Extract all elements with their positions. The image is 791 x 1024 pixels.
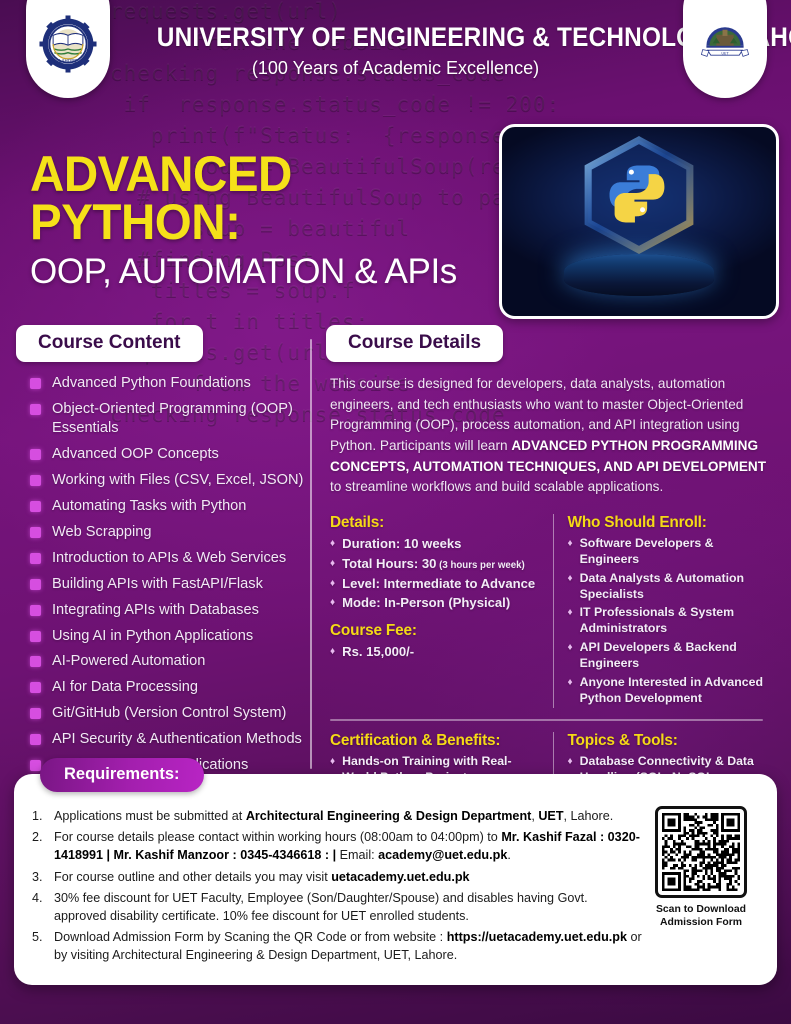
- who-should-enroll-item: ♦Anyone Interested in Advanced Python De…: [568, 674, 764, 706]
- details-label: Total Hours: 30 (3 hours per week): [342, 555, 525, 573]
- who-should-enroll-title: Who Should Enroll:: [568, 514, 764, 532]
- course-content-item-label: Object-Oriented Programming (OOP) Essent…: [52, 400, 308, 439]
- requirements-text-plain: For course outline and other details you…: [54, 870, 331, 884]
- course-fee-item: ♦Rs. 15,000/-: [330, 643, 541, 660]
- qr-block: Scan to Download Admission Form: [643, 800, 759, 969]
- topics-tools-title: Topics & Tools:: [568, 732, 764, 750]
- bullet-square-icon: [30, 527, 41, 538]
- hero-text-block: ADVANCED PYTHON: OOP, AUTOMATION & APIs: [0, 122, 499, 292]
- requirements-item-number: 2.: [32, 829, 54, 865]
- bullet-square-icon: [30, 682, 41, 693]
- course-fee-block: Course Fee: ♦Rs. 15,000/-: [330, 622, 541, 660]
- course-content-item-label: Git/GitHub (Version Control System): [52, 704, 286, 723]
- requirements-text-bold: academy@uet.edu.pk: [378, 848, 507, 862]
- bullet-square-icon: [30, 475, 41, 486]
- requirements-list: 1.Applications must be submitted at Arch…: [32, 800, 643, 969]
- course-content-item-label: Advanced OOP Concepts: [52, 445, 219, 464]
- course-content-item-label: Introduction to APIs & Web Services: [52, 549, 286, 568]
- requirements-item: 5.Download Admission Form by Scaning the…: [32, 929, 643, 965]
- course-content-item: Working with Files (CSV, Excel, JSON): [16, 471, 308, 490]
- course-content-item: Building APIs with FastAPI/Flask: [16, 575, 308, 594]
- course-content-item-label: Advanced Python Foundations: [52, 374, 251, 393]
- university-name: UNIVERSITY OF ENGINEERING & TECHNOLOGY L…: [156, 22, 634, 53]
- qr-caption: Scan to Download Admission Form: [643, 903, 759, 929]
- requirements-text-plain: For course details please contact within…: [54, 830, 501, 844]
- course-content-item: Integrating APIs with Databases: [16, 601, 308, 620]
- course-intro-paragraph: This course is designed for developers, …: [326, 374, 775, 498]
- requirements-item-text: Download Admission Form by Scaning the Q…: [54, 929, 643, 965]
- diamond-bullet-icon: ♦: [330, 596, 335, 609]
- diamond-bullet-icon: ♦: [568, 641, 573, 654]
- qr-caption-line2: Admission Form: [643, 916, 759, 929]
- requirements-item: 2.For course details please contact with…: [32, 829, 643, 865]
- course-content-item: AI-Powered Automation: [16, 652, 308, 671]
- bullet-square-icon: [30, 378, 41, 389]
- course-content-heading: Course Content: [16, 325, 203, 362]
- course-content-item: API Security & Authentication Methods: [16, 730, 308, 749]
- requirements-item-text: Applications must be submitted at Archit…: [54, 808, 613, 826]
- course-content-item: Advanced OOP Concepts: [16, 445, 308, 464]
- diamond-bullet-icon: ♦: [330, 557, 335, 570]
- details-label: Level: Intermediate to Advance: [342, 575, 535, 592]
- details-title: Details:: [330, 514, 541, 532]
- requirements-text-bold: uetacademy.uet.edu.pk: [331, 870, 469, 884]
- course-content-item: Advanced Python Foundations: [16, 374, 308, 393]
- pedestal: [564, 254, 714, 296]
- requirements-item: 1.Applications must be submitted at Arch…: [32, 808, 643, 826]
- course-content-item-label: AI for Data Processing: [52, 678, 198, 697]
- requirements-item-text: For course outline and other details you…: [54, 869, 470, 887]
- requirements-text-plain: Applications must be submitted at: [54, 809, 246, 823]
- diamond-bullet-icon: ♦: [568, 606, 573, 619]
- course-content-item: Using AI in Python Applications: [16, 627, 308, 646]
- course-content-item-label: Web Scrapping: [52, 523, 152, 542]
- details-label: Duration: 10 weeks: [342, 535, 461, 552]
- details-label: Mode: In-Person (Physical): [342, 594, 510, 611]
- course-details-column: Course Details This course is designed f…: [320, 325, 775, 774]
- who-should-enroll-item: ♦Data Analysts & Automation Specialists: [568, 570, 764, 602]
- course-content-item-label: Integrating APIs with Databases: [52, 601, 259, 620]
- course-content-item-label: Working with Files (CSV, Excel, JSON): [52, 471, 303, 490]
- course-fee-title: Course Fee:: [330, 622, 541, 640]
- who-should-enroll-label: Software Developers & Engineers: [580, 535, 763, 567]
- course-content-item: Introduction to APIs & Web Services: [16, 549, 308, 568]
- bullet-square-icon: [30, 760, 41, 771]
- python-logo-icon: [578, 134, 700, 256]
- bullet-square-icon: [30, 404, 41, 415]
- diamond-bullet-icon: ♦: [568, 755, 573, 768]
- who-should-enroll-label: Anyone Interested in Advanced Python Dev…: [580, 674, 763, 706]
- course-content-item-label: Using AI in Python Applications: [52, 627, 253, 646]
- course-content-item-label: AI-Powered Automation: [52, 652, 205, 671]
- requirements-text-plain: Download Admission Form by Scaning the Q…: [54, 930, 447, 944]
- requirements-item-text: 30% fee discount for UET Faculty, Employ…: [54, 890, 643, 926]
- requirements-item-number: 5.: [32, 929, 54, 965]
- who-should-enroll-label: Data Analysts & Automation Specialists: [580, 570, 763, 602]
- bullet-square-icon: [30, 501, 41, 512]
- diamond-bullet-icon: ♦: [330, 645, 335, 658]
- details-item: ♦Total Hours: 30 (3 hours per week): [330, 555, 541, 573]
- requirements-item-text: For course details please contact within…: [54, 829, 643, 865]
- diamond-bullet-icon: ♦: [568, 537, 573, 550]
- bullet-square-icon: [30, 579, 41, 590]
- column-divider: [310, 339, 312, 769]
- bullet-square-icon: [30, 553, 41, 564]
- course-content-list: Advanced Python FoundationsObject-Orient…: [16, 374, 308, 801]
- requirements-item-number: 1.: [32, 808, 54, 826]
- svg-text:UET: UET: [721, 52, 729, 56]
- page-subtitle: OOP, AUTOMATION & APIs: [30, 252, 499, 292]
- requirements-section: Requirements: 1.Applications must be sub…: [14, 774, 777, 1001]
- requirements-badge: Requirements:: [40, 758, 204, 792]
- poster-root: requests.get(url) from the websitechecki…: [0, 0, 791, 1024]
- requirements-item-number: 3.: [32, 869, 54, 887]
- intro-text-2: to streamline workflows and build scalab…: [330, 479, 663, 494]
- course-fee-list: ♦Rs. 15,000/-: [330, 643, 541, 660]
- details-item: ♦Mode: In-Person (Physical): [330, 594, 541, 611]
- hero-section: ADVANCED PYTHON: OOP, AUTOMATION & APIs: [0, 104, 791, 319]
- course-details-heading: Course Details: [326, 325, 503, 362]
- who-should-enroll-item: ♦API Developers & Backend Engineers: [568, 639, 764, 671]
- requirements-text-plain: 30% fee discount for UET Faculty, Employ…: [54, 891, 588, 923]
- who-should-enroll-item: ♦IT Professionals & System Administrator…: [568, 604, 764, 636]
- requirements-text-plain: , Lahore.: [564, 809, 614, 823]
- details-item: ♦Duration: 10 weeks: [330, 535, 541, 552]
- svg-text:LAHORE: LAHORE: [59, 59, 77, 65]
- python-logo-illustration: [499, 124, 779, 319]
- diamond-bullet-icon: ♦: [330, 577, 335, 590]
- bullet-square-icon: [30, 449, 41, 460]
- who-should-enroll-label: API Developers & Backend Engineers: [580, 639, 763, 671]
- requirements-text-plain: Email:: [336, 848, 378, 862]
- requirements-text-bold: https://uetacademy.uet.edu.pk: [447, 930, 627, 944]
- details-list: ♦Duration: 10 weeks♦Total Hours: 30 (3 h…: [330, 535, 541, 612]
- bullet-square-icon: [30, 656, 41, 667]
- bullet-square-icon: [30, 734, 41, 745]
- uet-centenary-logo: UET: [683, 0, 767, 98]
- who-should-enroll-item: ♦Software Developers & Engineers: [568, 535, 764, 567]
- details-note: (3 hours per week): [436, 560, 524, 571]
- bullet-square-icon: [30, 605, 41, 616]
- requirements-item: 3.For course outline and other details y…: [32, 869, 643, 887]
- course-content-item: Object-Oriented Programming (OOP) Essent…: [16, 400, 308, 439]
- poster-header: LAHORE UNIVERSITY OF ENGINEERING & TECHN…: [0, 0, 791, 104]
- diamond-bullet-icon: ♦: [568, 676, 573, 689]
- section-divider: [330, 719, 763, 721]
- requirements-text-bold: UET: [538, 809, 563, 823]
- requirements-item: 4.30% fee discount for UET Faculty, Empl…: [32, 890, 643, 926]
- requirements-item-number: 4.: [32, 890, 54, 926]
- page-title: ADVANCED PYTHON:: [30, 150, 476, 246]
- details-grid-row-1: Details: ♦Duration: 10 weeks♦Total Hours…: [326, 514, 775, 708]
- course-content-item: Git/GitHub (Version Control System): [16, 704, 308, 723]
- qr-caption-line1: Scan to Download: [643, 903, 759, 916]
- uet-centenary-icon: UET: [694, 16, 756, 72]
- course-content-item-label: Building APIs with FastAPI/Flask: [52, 575, 263, 594]
- course-content-column: Course Content Advanced Python Foundatio…: [16, 325, 308, 774]
- details-item: ♦Level: Intermediate to Advance: [330, 575, 541, 592]
- bullet-square-icon: [30, 631, 41, 642]
- course-content-item-label: API Security & Authentication Methods: [52, 730, 302, 749]
- main-content: Course Content Advanced Python Foundatio…: [0, 319, 791, 774]
- diamond-bullet-icon: ♦: [330, 755, 335, 768]
- bullet-square-icon: [30, 708, 41, 719]
- university-tagline: (100 Years of Academic Excellence): [136, 58, 656, 79]
- certification-title: Certification & Benefits:: [330, 732, 541, 750]
- header-title-block: UNIVERSITY OF ENGINEERING & TECHNOLOGY L…: [136, 0, 656, 79]
- requirements-card: Requirements: 1.Applications must be sub…: [14, 774, 777, 985]
- uet-crest-logo: LAHORE: [26, 0, 110, 98]
- who-should-enroll-block: Who Should Enroll: ♦Software Developers …: [553, 514, 776, 708]
- diamond-bullet-icon: ♦: [568, 572, 573, 585]
- qr-code-icon: [662, 813, 740, 891]
- course-content-item: Web Scrapping: [16, 523, 308, 542]
- requirements-text-plain: .: [507, 848, 511, 862]
- who-should-enroll-label: IT Professionals & System Administrators: [580, 604, 763, 636]
- course-fee-label: Rs. 15,000/-: [342, 643, 414, 660]
- requirements-text-bold: Architectural Engineering & Design Depar…: [246, 809, 532, 823]
- who-should-enroll-list: ♦Software Developers & Engineers♦Data An…: [568, 535, 764, 706]
- uet-crest-icon: LAHORE: [37, 13, 99, 75]
- course-content-item-label: Automating Tasks with Python: [52, 497, 246, 516]
- course-content-item: AI for Data Processing: [16, 678, 308, 697]
- diamond-bullet-icon: ♦: [330, 537, 335, 550]
- qr-code[interactable]: [655, 806, 747, 898]
- course-content-item: Automating Tasks with Python: [16, 497, 308, 516]
- details-fee-block: Details: ♦Duration: 10 weeks♦Total Hours…: [330, 514, 553, 708]
